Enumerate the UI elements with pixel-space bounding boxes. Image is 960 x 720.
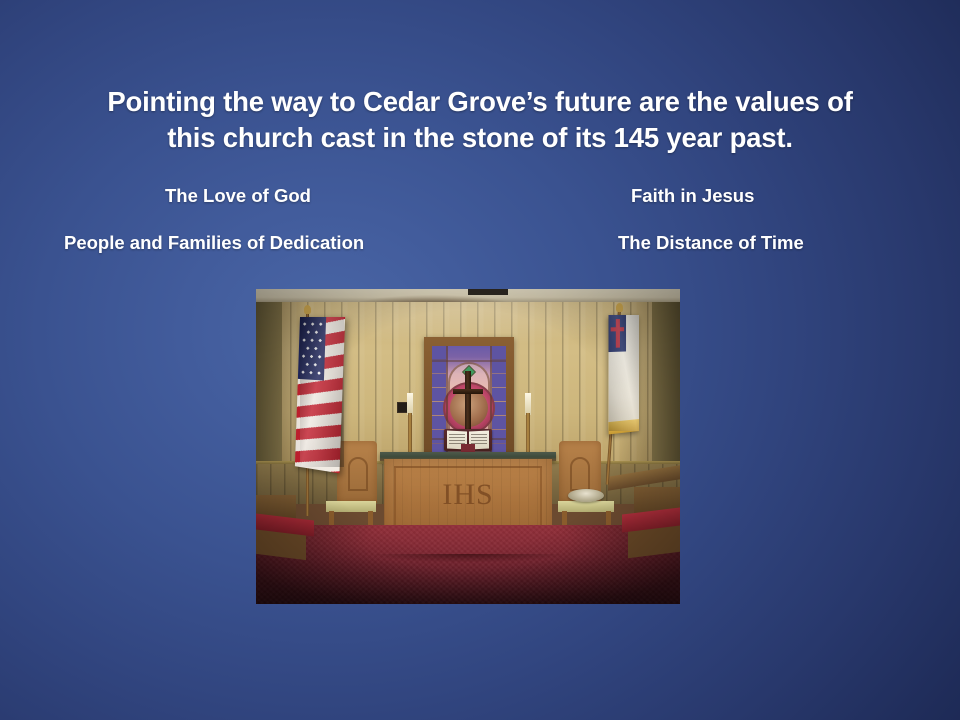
value-label-people-and-families: People and Families of Dedication	[64, 232, 364, 254]
flagpole-finial-left	[304, 305, 311, 314]
candlestick-right	[526, 413, 530, 455]
carpet-shading	[256, 525, 680, 604]
chair-right-arch-carving	[570, 457, 590, 491]
offering-plate	[568, 489, 604, 502]
chair-left-arch-carving	[348, 457, 368, 491]
altar-cross-crossbar	[453, 389, 483, 394]
american-flag-folds	[300, 317, 344, 467]
christian-flag-folds	[609, 315, 639, 431]
sanctuary-photo: IHS	[256, 289, 680, 604]
page-title: Pointing the way to Cedar Grove’s future…	[60, 84, 900, 156]
value-label-distance-of-time: The Distance of Time	[618, 232, 804, 254]
candle-left-wax	[407, 393, 413, 415]
altar-floor-shadow	[374, 554, 562, 562]
headline-line-2: this church cast in the stone of its 145…	[60, 120, 900, 156]
altar-ihs-monogram: IHS	[384, 475, 552, 515]
flagpole-finial-right	[616, 303, 623, 312]
candle-right-wax	[525, 393, 531, 415]
value-label-love-of-god: The Love of God	[165, 185, 311, 207]
slide: Pointing the way to Cedar Grove’s future…	[0, 0, 960, 720]
value-label-faith-in-jesus: Faith in Jesus	[631, 185, 754, 207]
candlestick-left	[408, 413, 412, 455]
headline-line-1: Pointing the way to Cedar Grove’s future…	[107, 86, 852, 117]
